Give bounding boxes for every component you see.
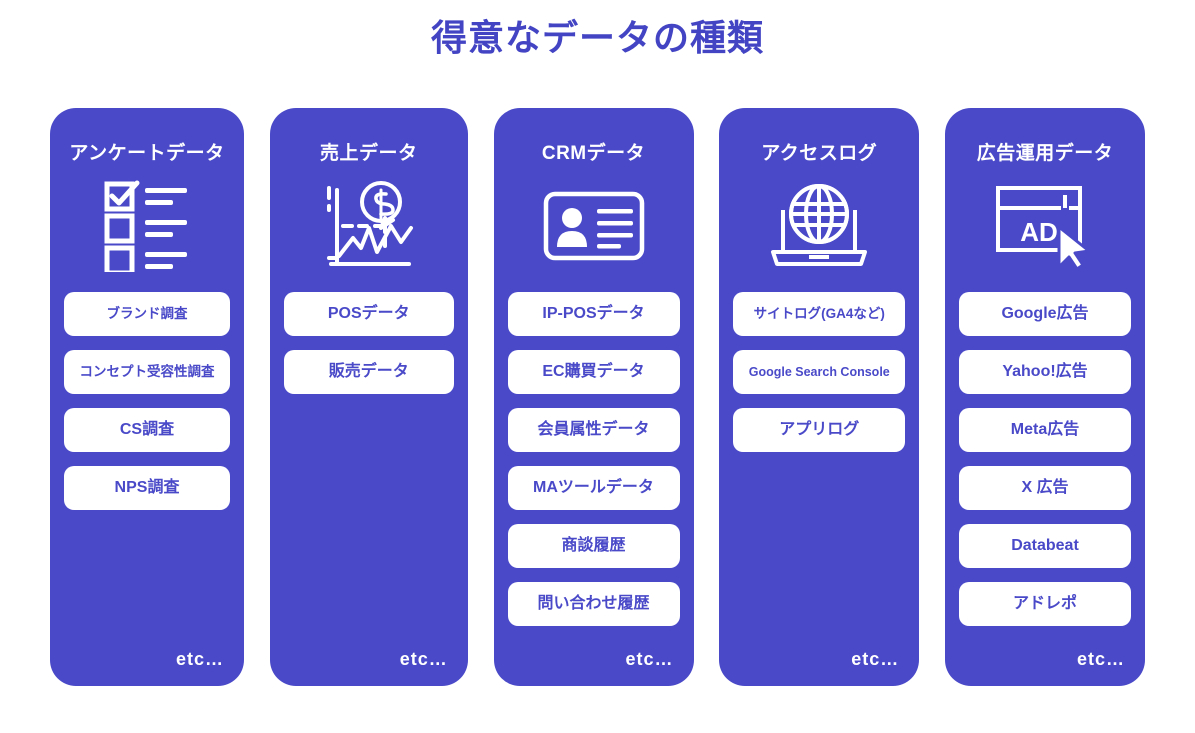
list-item[interactable]: IP-POSデータ [508,292,680,336]
svg-text:AD: AD [1020,217,1058,247]
card-crm-data[interactable]: CRMデータ IP-POSデータ EC購買データ 会員属性データ MAツールデー… [494,108,694,686]
list-item[interactable]: 販売データ [284,350,454,394]
list-item[interactable]: ブランド調査 [64,292,230,336]
card-title: CRMデータ [508,140,680,168]
card-title: アンケートデータ [64,140,230,168]
card-grid: アンケートデータ ブランド調査 コンセプト受容性調査 [50,108,1145,688]
infographic-root: 得意なデータの種類 アンケートデータ ブラン [0,0,1195,733]
list-item[interactable]: X 広告 [959,466,1131,510]
etc-label: etc… [851,649,899,670]
list-item[interactable]: 商談履歴 [508,524,680,568]
list-item[interactable]: アドレポ [959,582,1131,626]
list-item[interactable]: POSデータ [284,292,454,336]
card-title: 広告運用データ [959,140,1131,168]
etc-label: etc… [400,649,448,670]
pill-list: ブランド調査 コンセプト受容性調査 CS調査 NPS調査 [64,292,230,510]
etc-label: etc… [1077,649,1125,670]
list-item[interactable]: CS調査 [64,408,230,452]
ad-banner-icon: AD [959,176,1131,276]
list-item[interactable]: サイトログ(GA4など) [733,292,905,336]
card-survey-data[interactable]: アンケートデータ ブランド調査 コンセプト受容性調査 [50,108,244,686]
checklist-icon [64,176,230,276]
pill-list: サイトログ(GA4など) Google Search Console アプリログ [733,292,905,452]
list-item[interactable]: 会員属性データ [508,408,680,452]
list-item[interactable]: アプリログ [733,408,905,452]
list-item[interactable]: EC購買データ [508,350,680,394]
list-item[interactable]: Meta広告 [959,408,1131,452]
list-item[interactable]: NPS調査 [64,466,230,510]
card-sales-data[interactable]: 売上データ POSデータ 販売データ [270,108,468,686]
list-item[interactable]: MAツールデータ [508,466,680,510]
laptop-globe-icon [733,176,905,276]
etc-label: etc… [625,649,673,670]
list-item[interactable]: Databeat [959,524,1131,568]
etc-label: etc… [176,649,224,670]
list-item[interactable]: 問い合わせ履歴 [508,582,680,626]
card-title: 売上データ [284,140,454,168]
pill-list: POSデータ 販売データ [284,292,454,394]
sales-chart-icon [284,176,454,276]
list-item[interactable]: Yahoo!広告 [959,350,1131,394]
page-title: 得意なデータの種類 [0,14,1195,62]
card-ad-data[interactable]: 広告運用データ AD Google広告 Yahoo!広告 Meta広告 X 広告… [945,108,1145,686]
id-card-icon [508,176,680,276]
card-access-log[interactable]: アクセスログ サイトログ(GA4など) Google Search Consol… [719,108,919,686]
pill-list: IP-POSデータ EC購買データ 会員属性データ MAツールデータ 商談履歴 … [508,292,680,626]
pill-list: Google広告 Yahoo!広告 Meta広告 X 広告 Databeat ア… [959,292,1131,626]
list-item[interactable]: Google Search Console [733,350,905,394]
list-item[interactable]: Google広告 [959,292,1131,336]
list-item[interactable]: コンセプト受容性調査 [64,350,230,394]
card-title: アクセスログ [733,140,905,168]
